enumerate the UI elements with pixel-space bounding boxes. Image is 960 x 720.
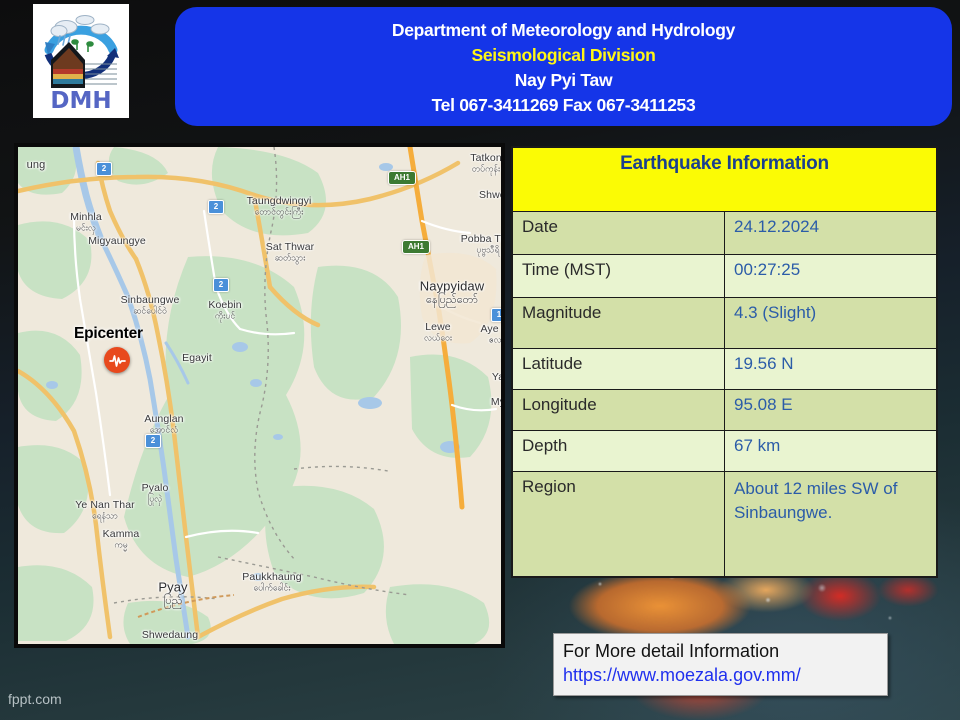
highway-shield-ah1: AH1 <box>388 171 416 185</box>
map-place-label: ဧလာ <box>489 335 501 348</box>
map-place-label: Naypyidaw <box>420 279 485 294</box>
table-row: Magnitude4.3 (Slight) <box>512 298 937 349</box>
division-name: Seismological Division <box>471 43 655 68</box>
map-place-label: တောင်တွင်းကြီး <box>255 207 304 220</box>
map-place-label: Paukkhaung <box>242 571 301 583</box>
map-place-label: Kamma <box>103 528 140 540</box>
map-place-label: တပ်ကုန်း <box>472 164 500 177</box>
map-place-label: ကမ္မ <box>114 540 127 553</box>
earthquake-info-table: Earthquake Information Date24.12.2024Tim… <box>511 146 938 578</box>
logo-text: DMH <box>50 88 111 114</box>
map-place-label: Lewe <box>425 321 451 333</box>
map-place-label: ဆတ်သွား <box>275 253 306 266</box>
water-cycle-icon: DMH <box>33 4 129 118</box>
table-row-value: 95.08 E <box>725 390 938 431</box>
map-place-label: Aunglan <box>144 413 183 425</box>
slide-canvas: DMH Department of Meteorology and Hydrol… <box>0 0 960 720</box>
fppt-watermark: fppt.com <box>8 691 62 707</box>
table-row-key: Latitude <box>512 349 725 390</box>
more-info-title: For More detail Information <box>563 640 878 663</box>
table-row: Date24.12.2024 <box>512 212 937 255</box>
map-place-label: နေပြည်တော် <box>426 293 478 309</box>
map-place-label: Minhla <box>70 211 102 223</box>
table-row: Time (MST)00:27:25 <box>512 255 937 298</box>
table-row-value: 4.3 (Slight) <box>725 298 938 349</box>
map-place-label: Sat Thwar <box>266 241 315 253</box>
dmh-logo: DMH <box>33 4 129 118</box>
map-place-label: Koebin <box>208 299 241 311</box>
table-title: Earthquake Information <box>512 147 937 212</box>
map-place-label: Shwemi <box>479 189 501 201</box>
map-place-label: ပြည် <box>164 594 183 610</box>
epicenter-map[interactable]: ungMinhlaမင်းလှMigyaungyeTaungdwingyiတော… <box>14 143 505 648</box>
table-row-key: Date <box>512 212 725 255</box>
table-row-key: Depth <box>512 431 725 472</box>
table-row: Latitude19.56 N <box>512 349 937 390</box>
map-place-label: Shwedaung <box>142 629 198 641</box>
table-body: Date24.12.2024Time (MST)00:27:25Magnitud… <box>512 212 937 578</box>
map-canvas[interactable]: ungMinhlaမင်းလှMigyaungyeTaungdwingyiတော… <box>18 147 501 644</box>
more-info-box: For More detail Information https://www.… <box>553 633 888 696</box>
map-place-label: Aye La <box>480 323 501 335</box>
more-info-link[interactable]: https://www.moezala.gov.mm/ <box>563 663 878 687</box>
map-place-label: Pyay <box>158 580 187 595</box>
route-shield: 2 <box>213 278 229 292</box>
table-row-value: 00:27:25 <box>725 255 938 298</box>
map-place-label: မင်းလှ <box>76 223 96 236</box>
route-shield: 2 <box>96 162 112 176</box>
epicenter-label: Epicenter <box>74 325 143 343</box>
contact-info: Tel 067-3411269 Fax 067-3411253 <box>432 93 696 118</box>
map-place-label: ပြုလှဲ <box>148 494 162 507</box>
highway-shield-ah1: AH1 <box>402 240 430 254</box>
map-place-label: ung <box>27 159 46 171</box>
route-shield: 2 <box>208 200 224 214</box>
map-place-label: ပေါက်ခေါင်း <box>253 583 290 596</box>
map-place-label: Pyalo <box>142 482 169 494</box>
map-place-label: Sinbaungwe <box>121 294 180 306</box>
map-place-label: Pobba Thiri <box>461 233 501 245</box>
seismograph-wave-icon <box>109 352 126 369</box>
table-row: RegionAbout 12 miles SW of Sinbaungwe. <box>512 472 937 578</box>
table-row-key: Region <box>512 472 725 578</box>
map-place-label: Migyaungye <box>88 235 146 247</box>
org-name: Department of Meteorology and Hydrology <box>392 18 735 43</box>
table-row-key: Longitude <box>512 390 725 431</box>
map-place-label: လယ်ဝေး <box>424 333 452 346</box>
table-row-value: 19.56 N <box>725 349 938 390</box>
map-place-label: Tatkon <box>470 152 501 164</box>
table-row-value: 24.12.2024 <box>725 212 938 255</box>
table-row-key: Magnitude <box>512 298 725 349</box>
route-shield: 2 <box>145 434 161 448</box>
map-place-label: Ye Nan Thar <box>75 499 134 511</box>
map-place-label: ပုဗ္ဗသီရိ <box>476 245 499 258</box>
header-panel: Department of Meteorology and Hydrology … <box>175 7 952 126</box>
route-shield: 1 <box>491 308 501 322</box>
map-place-label: ရေနံသာ <box>92 511 118 524</box>
city-name: Nay Pyi Taw <box>515 68 613 93</box>
map-place-label: ကိုးပင် <box>215 311 235 324</box>
table-row-value: About 12 miles SW of Sinbaungwe. <box>725 472 938 578</box>
map-place-label: Taungdwingyi <box>247 195 312 207</box>
epicenter-marker-icon[interactable] <box>104 347 130 373</box>
table-row: Depth67 km <box>512 431 937 472</box>
table-row: Longitude95.08 E <box>512 390 937 431</box>
map-place-label: Yae <box>492 371 501 383</box>
map-place-label: Egayit <box>182 352 212 364</box>
map-place-label: Mye <box>491 396 501 408</box>
table-row-value: 67 km <box>725 431 938 472</box>
map-place-label: ဆင်ပေါင်ဝဲ <box>133 306 167 319</box>
table-row-key: Time (MST) <box>512 255 725 298</box>
